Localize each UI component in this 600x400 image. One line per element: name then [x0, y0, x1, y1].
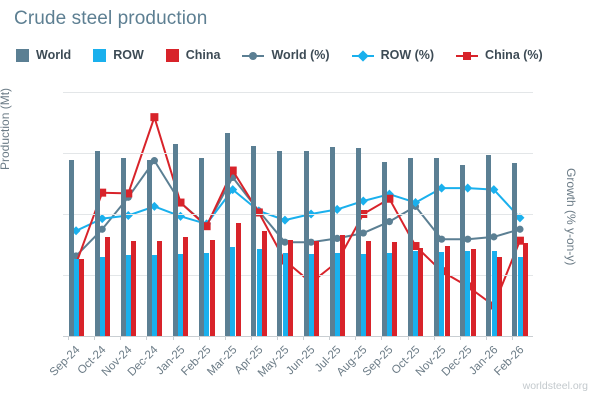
- legend-item-row[interactable]: ROW (%): [352, 48, 434, 62]
- legend-item-label: ROW: [113, 48, 144, 62]
- legend-item-china[interactable]: China: [166, 48, 221, 62]
- bar-row-nov-24[interactable]: [126, 255, 131, 336]
- line-row: [76, 188, 520, 231]
- legend-item-label: ROW (%): [381, 48, 434, 62]
- x-axis-tick-mark: [225, 336, 226, 340]
- legend-line-marker-icon: [352, 49, 374, 62]
- bar-row-aug-25[interactable]: [361, 254, 366, 336]
- bar-china-sep-24[interactable]: [79, 259, 84, 336]
- legend-swatch-icon: [166, 49, 179, 62]
- bar-china-nov-24[interactable]: [131, 241, 136, 336]
- bar-china-apr-25[interactable]: [262, 231, 267, 336]
- x-axis-tick-mark: [381, 336, 382, 340]
- bar-china-feb-26[interactable]: [523, 243, 528, 336]
- x-axis-tick-mark: [68, 336, 69, 340]
- bar-row-jul-25[interactable]: [335, 253, 340, 336]
- bar-row-sep-25[interactable]: [387, 253, 392, 336]
- bar-row-dec-24[interactable]: [152, 255, 157, 336]
- legend-item-world[interactable]: World (%): [242, 48, 329, 62]
- bar-china-sep-25[interactable]: [392, 242, 397, 336]
- bar-china-jan-26[interactable]: [497, 257, 502, 336]
- legend-item-label: World: [36, 48, 71, 62]
- bar-row-apr-25[interactable]: [257, 249, 262, 336]
- legend-item-label: China (%): [485, 48, 543, 62]
- bar-china-oct-24[interactable]: [105, 237, 110, 336]
- chart-legend: WorldROWChinaWorld (%)ROW (%)China (%): [16, 48, 565, 62]
- bar-china-oct-25[interactable]: [418, 248, 423, 336]
- x-axis-tick-mark: [303, 336, 304, 340]
- bar-row-jun-25[interactable]: [309, 254, 314, 336]
- y-axis-title-left: Production (Mt): [0, 88, 12, 170]
- bar-china-dec-24[interactable]: [157, 241, 162, 336]
- x-axis-tick-mark: [277, 336, 278, 340]
- bar-china-mar-25[interactable]: [236, 223, 241, 336]
- legend-item-world[interactable]: World: [16, 48, 71, 62]
- bar-row-feb-25[interactable]: [204, 253, 209, 336]
- bar-china-feb-25[interactable]: [210, 240, 215, 336]
- x-axis-tick-mark: [251, 336, 252, 340]
- bar-china-jan-25[interactable]: [183, 237, 188, 336]
- marker-china-dec-24[interactable]: [150, 113, 158, 121]
- legend-line-marker-icon: [242, 49, 264, 62]
- chart-container: Crude steel production WorldROWChinaWorl…: [0, 0, 600, 400]
- x-axis-tick-mark: [146, 336, 147, 340]
- x-axis-tick-mark: [199, 336, 200, 340]
- x-axis-tick-mark: [329, 336, 330, 340]
- bar-row-jan-26[interactable]: [492, 251, 497, 336]
- legend-swatch-icon: [93, 49, 106, 62]
- bar-row-dec-25[interactable]: [465, 251, 470, 336]
- bar-china-dec-25[interactable]: [471, 249, 476, 336]
- bar-row-oct-25[interactable]: [413, 251, 418, 336]
- chart-title: Crude steel production: [14, 8, 207, 30]
- legend-swatch-icon: [16, 49, 29, 62]
- legend-line-marker-icon: [456, 49, 478, 62]
- bar-row-nov-25[interactable]: [439, 252, 444, 336]
- gridline: [63, 336, 533, 337]
- x-axis-tick-mark: [355, 336, 356, 340]
- x-axis-tick-mark: [408, 336, 409, 340]
- legend-item-row[interactable]: ROW: [93, 48, 144, 62]
- x-axis-tick-mark: [460, 336, 461, 340]
- bar-row-sep-24[interactable]: [74, 259, 79, 336]
- bar-china-jun-25[interactable]: [314, 241, 319, 336]
- x-axis-tick-mark: [120, 336, 121, 340]
- watermark: worldsteel.org: [523, 380, 588, 392]
- line-world: [76, 161, 520, 256]
- bar-row-mar-25[interactable]: [230, 247, 235, 336]
- bar-row-oct-24[interactable]: [100, 257, 105, 336]
- bar-china-may-25[interactable]: [288, 240, 293, 336]
- y-axis-title-right: Growth (% y-on-y): [564, 168, 578, 265]
- x-axis-tick-mark: [434, 336, 435, 340]
- bar-row-may-25[interactable]: [283, 253, 288, 336]
- legend-item-label: World (%): [271, 48, 329, 62]
- bar-china-jul-25[interactable]: [340, 235, 345, 336]
- x-axis-tick-mark: [94, 336, 95, 340]
- x-axis-tick-mark: [486, 336, 487, 340]
- bar-row-feb-26[interactable]: [518, 257, 523, 336]
- legend-item-china[interactable]: China (%): [456, 48, 543, 62]
- bar-row-jan-25[interactable]: [178, 254, 183, 336]
- x-axis-tick-mark: [512, 336, 513, 340]
- x-axis-tick-mark: [173, 336, 174, 340]
- bar-china-nov-25[interactable]: [445, 246, 450, 336]
- bar-china-aug-25[interactable]: [366, 241, 371, 336]
- plot-area: 050100150200–16–80816: [63, 92, 533, 336]
- legend-item-label: China: [186, 48, 221, 62]
- gridline: [63, 92, 533, 93]
- gridline: [63, 153, 533, 154]
